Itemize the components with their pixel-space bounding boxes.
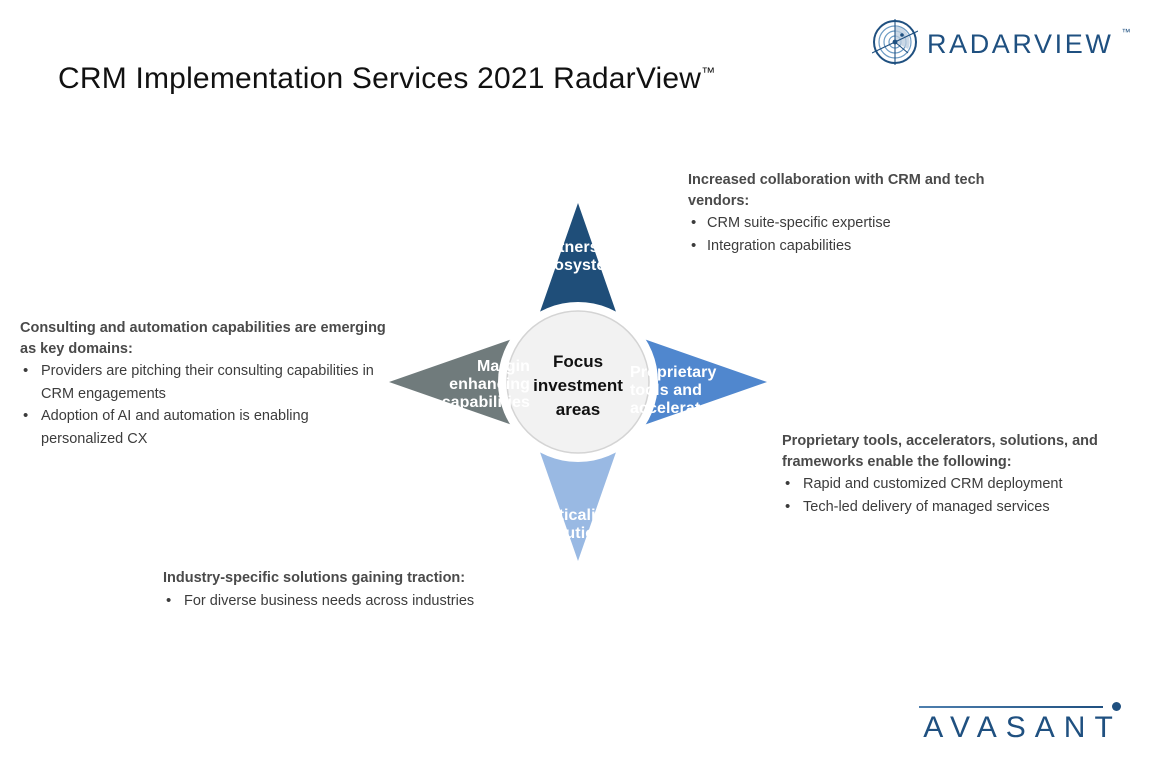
page-title-trademark: ™ — [701, 64, 715, 80]
avasant-logo: AVASANT — [915, 702, 1125, 744]
callout-proprietary-tools: Proprietary tools, accelerators, solutio… — [782, 431, 1142, 518]
callout-bullet-list: Providers are pitching their consulting … — [20, 360, 390, 450]
callout-bullet: Tech-led delivery of managed services — [782, 496, 1142, 518]
callout-bullet: Providers are pitching their consulting … — [20, 360, 390, 405]
callout-bullet-list: CRM suite-specific expertise Integration… — [688, 212, 1033, 257]
avasant-line — [919, 706, 1103, 708]
page-title: CRM Implementation Services 2021 RadarVi… — [58, 62, 715, 96]
radarview-logo: RADARVIEW™ — [872, 19, 1113, 70]
radar-icon — [872, 19, 918, 70]
callout-heading: Proprietary tools, accelerators, solutio… — [782, 431, 1142, 472]
radarview-trademark: ™ — [1121, 27, 1130, 37]
page-title-text: CRM Implementation Services 2021 RadarVi… — [58, 62, 701, 95]
avasant-dot-icon — [1112, 702, 1121, 711]
callout-bullet-list: Rapid and customized CRM deployment Tech… — [782, 473, 1142, 518]
callout-bullet: Rapid and customized CRM deployment — [782, 473, 1142, 495]
callout-bullet: For diverse business needs across indust… — [163, 590, 543, 612]
callout-bullet: Integration capabilities — [688, 235, 1033, 257]
callout-bullet-list: For diverse business needs across indust… — [163, 590, 543, 612]
avasant-wordmark: AVASANT — [915, 712, 1125, 744]
radarview-wordmark: RADARVIEW™ — [927, 29, 1113, 60]
callout-heading: Industry-specific solutions gaining trac… — [163, 568, 543, 589]
callout-industry-specific-solutions: Industry-specific solutions gaining trac… — [163, 568, 543, 612]
callout-bullet: CRM suite-specific expertise — [688, 212, 1033, 234]
callout-increased-collaboration: Increased collaboration with CRM and tec… — [688, 170, 1033, 257]
callout-heading: Consulting and automation capabilities a… — [20, 318, 390, 359]
radarview-wordmark-text: RADARVIEW — [927, 29, 1113, 59]
callout-consulting-and-automation: Consulting and automation capabilities a… — [20, 318, 390, 450]
center-circle[interactable] — [507, 311, 649, 453]
callout-bullet: Adoption of AI and automation is enablin… — [20, 405, 390, 450]
callout-heading: Increased collaboration with CRM and tec… — [688, 170, 1033, 211]
avasant-rule — [915, 702, 1125, 712]
